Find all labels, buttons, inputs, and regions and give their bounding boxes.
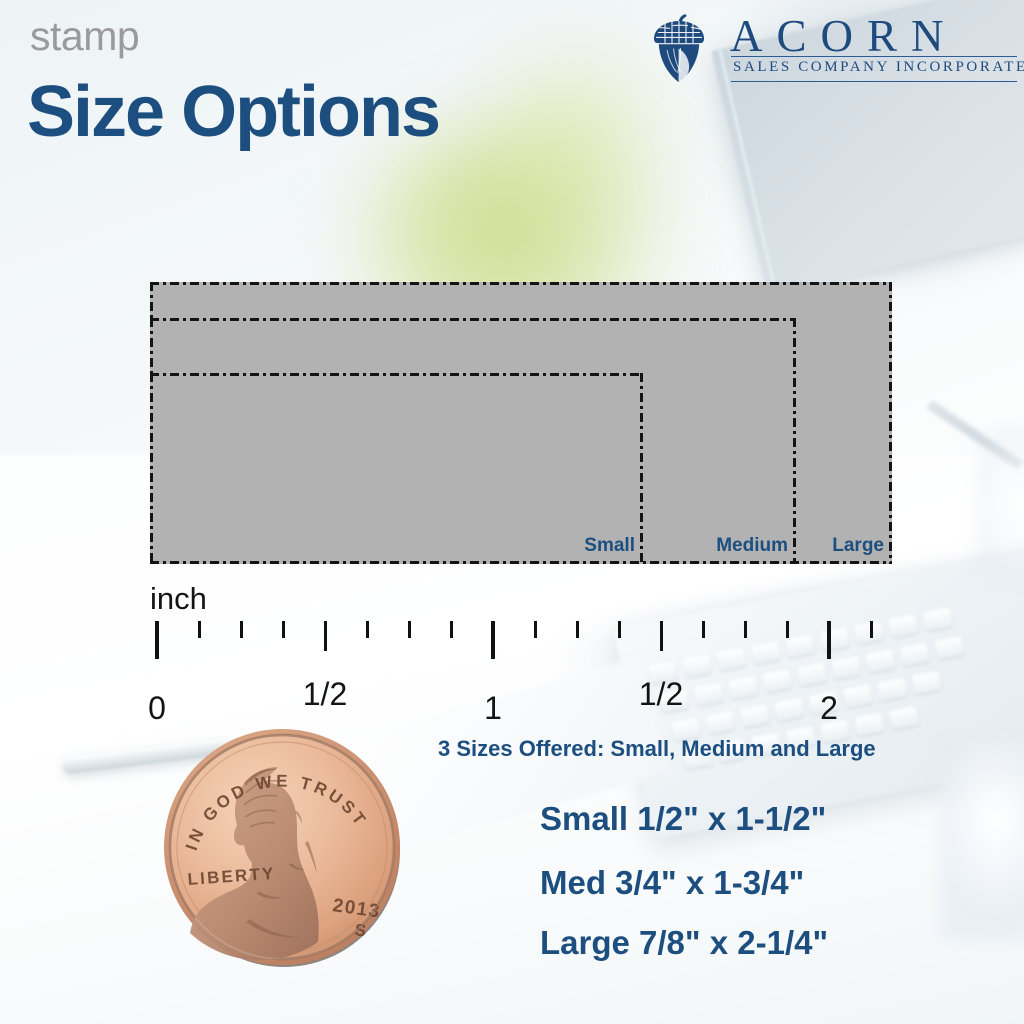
ruler-tick-minor — [786, 621, 789, 638]
size-box-label-large: Large — [832, 536, 884, 555]
size-box-medium-right-edge — [793, 318, 796, 564]
ruler-label-4: 2 — [820, 692, 838, 724]
size-line-medium: Med 3/4" x 1-3/4" — [540, 866, 804, 899]
ruler-tick-minor — [576, 621, 579, 638]
logo-wordmark: ACORN — [730, 14, 958, 59]
size-line-large: Large 7/8" x 2-1/4" — [540, 926, 828, 959]
ruler-caption: inch — [150, 583, 207, 614]
ruler-tick-minor — [702, 621, 705, 638]
sizes-offered-heading: 3 Sizes Offered: Small, Medium and Large — [438, 738, 876, 760]
logo-rule-upper — [731, 56, 1017, 57]
ruler-label-1: 1/2 — [303, 678, 347, 710]
ruler-tick-half — [324, 621, 327, 651]
page-kicker: stamp — [30, 16, 139, 57]
ruler-tick-major — [491, 621, 495, 659]
ruler-tick-minor — [366, 621, 369, 638]
ruler-tick-minor — [618, 621, 621, 638]
size-box-small[interactable]: Small — [150, 373, 643, 564]
ruler-tick-minor — [282, 621, 285, 638]
size-box-medium-top-edge — [150, 318, 796, 321]
ruler-tick-half — [660, 621, 663, 651]
ruler-tick-minor — [870, 621, 873, 638]
ruler-tick-minor — [408, 621, 411, 638]
size-box-large-right-edge — [889, 282, 892, 564]
size-box-label-small: Small — [584, 536, 635, 555]
ruler-tick-minor — [744, 621, 747, 638]
logo-rule-lower — [731, 81, 1017, 82]
ruler-tick-major — [827, 621, 831, 659]
size-box-small-right-edge — [640, 373, 643, 564]
ruler-tick-minor — [240, 621, 243, 638]
company-logo: ACORN SALES COMPANY INCORPORATED — [645, 8, 1017, 90]
ruler-tick-minor — [450, 621, 453, 638]
background-object-bottom-right — [940, 740, 1024, 940]
penny-coin-image: IN GOD WE TRUST LIBERTY 2013 S — [158, 723, 406, 971]
size-box-label-medium: Medium — [716, 536, 788, 555]
ruler-label-2: 1 — [484, 692, 502, 724]
page-title: Size Options — [27, 76, 439, 148]
logo-tagline: SALES COMPANY INCORPORATED — [733, 60, 1024, 75]
size-box-small-left-edge — [150, 373, 153, 564]
ruler-tick-major — [155, 621, 159, 659]
size-line-small: Small 1/2" x 1-1/2" — [540, 802, 826, 835]
acorn-icon — [645, 12, 713, 90]
ruler-tick-minor — [534, 621, 537, 638]
size-box-small-bottom-edge — [150, 561, 643, 564]
ruler-tick-minor — [198, 621, 201, 638]
ruler-label-0: 0 — [148, 692, 166, 724]
ruler-label-3: 1/2 — [639, 678, 683, 710]
size-box-small-top-edge — [150, 373, 643, 376]
size-box-large-top-edge — [150, 282, 892, 285]
background-object-right — [975, 430, 1024, 580]
stamp-size-options-graphic: stamp Size Options ACORN SALES COMPANY I… — [0, 0, 1024, 1024]
